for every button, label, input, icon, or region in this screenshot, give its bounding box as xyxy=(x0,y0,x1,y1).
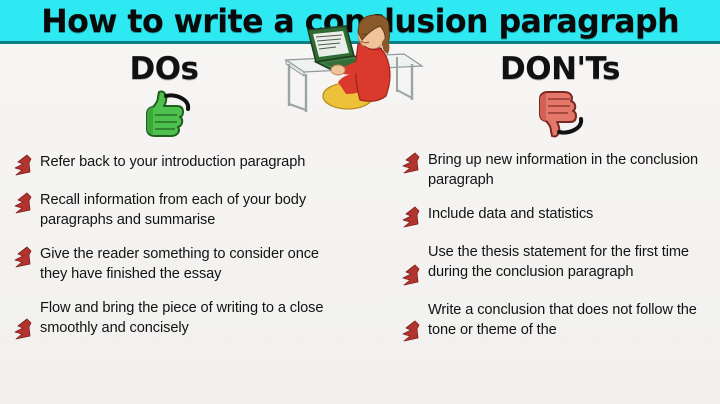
list-item-text: Recall information from each of your bod… xyxy=(40,190,330,230)
arrow-bullet-icon xyxy=(12,154,32,176)
arrow-bullet-icon xyxy=(400,264,420,286)
content-area: DOs Refer back to your int xyxy=(0,47,720,404)
list-item-text: Give the reader something to consider on… xyxy=(40,244,330,284)
list-item: Bring up new information in the conclusi… xyxy=(398,150,716,190)
column-donts: DON'Ts Bring up new inform xyxy=(398,47,716,404)
arrow-bullet-icon xyxy=(400,320,420,342)
list-item-text: Write a conclusion that does not follow … xyxy=(428,300,712,340)
list-item: Write a conclusion that does not follow … xyxy=(398,300,716,342)
list-item-text: Use the thesis statement for the first t… xyxy=(428,242,712,282)
arrow-bullet-icon xyxy=(12,318,32,340)
donts-list: Bring up new information in the conclusi… xyxy=(398,150,716,342)
list-item-text: Bring up new information in the conclusi… xyxy=(428,150,712,190)
thumbs-down-icon-wrap xyxy=(398,88,716,146)
thumbs-up-icon-wrap xyxy=(8,88,338,146)
arrow-bullet-icon xyxy=(400,206,420,228)
list-item-text: Flow and bring the piece of writing to a… xyxy=(40,298,330,338)
donts-header: DON'Ts xyxy=(398,47,716,87)
thumbs-down-icon xyxy=(532,88,586,140)
list-item-text: Include data and statistics xyxy=(428,204,593,224)
arrow-bullet-icon xyxy=(12,192,32,214)
list-item: Recall information from each of your bod… xyxy=(8,190,338,230)
dos-title: DOs xyxy=(8,51,338,87)
arrow-bullet-icon xyxy=(400,152,420,174)
list-item: Flow and bring the piece of writing to a… xyxy=(8,298,338,340)
donts-title: DON'Ts xyxy=(398,51,716,87)
list-item: Include data and statistics xyxy=(398,204,716,228)
thumbs-up-icon xyxy=(139,88,193,140)
list-item: Refer back to your introduction paragrap… xyxy=(8,152,338,176)
arrow-bullet-icon xyxy=(12,246,32,268)
list-item: Use the thesis statement for the first t… xyxy=(398,242,716,286)
column-dos: DOs Refer back to your int xyxy=(8,47,338,404)
dos-list: Refer back to your introduction paragrap… xyxy=(8,152,338,340)
list-item: Give the reader something to consider on… xyxy=(8,244,338,284)
list-item-text: Refer back to your introduction paragrap… xyxy=(40,152,305,172)
dos-header: DOs xyxy=(8,47,338,87)
infographic-root: How to write a conclusion paragraph xyxy=(0,0,720,404)
